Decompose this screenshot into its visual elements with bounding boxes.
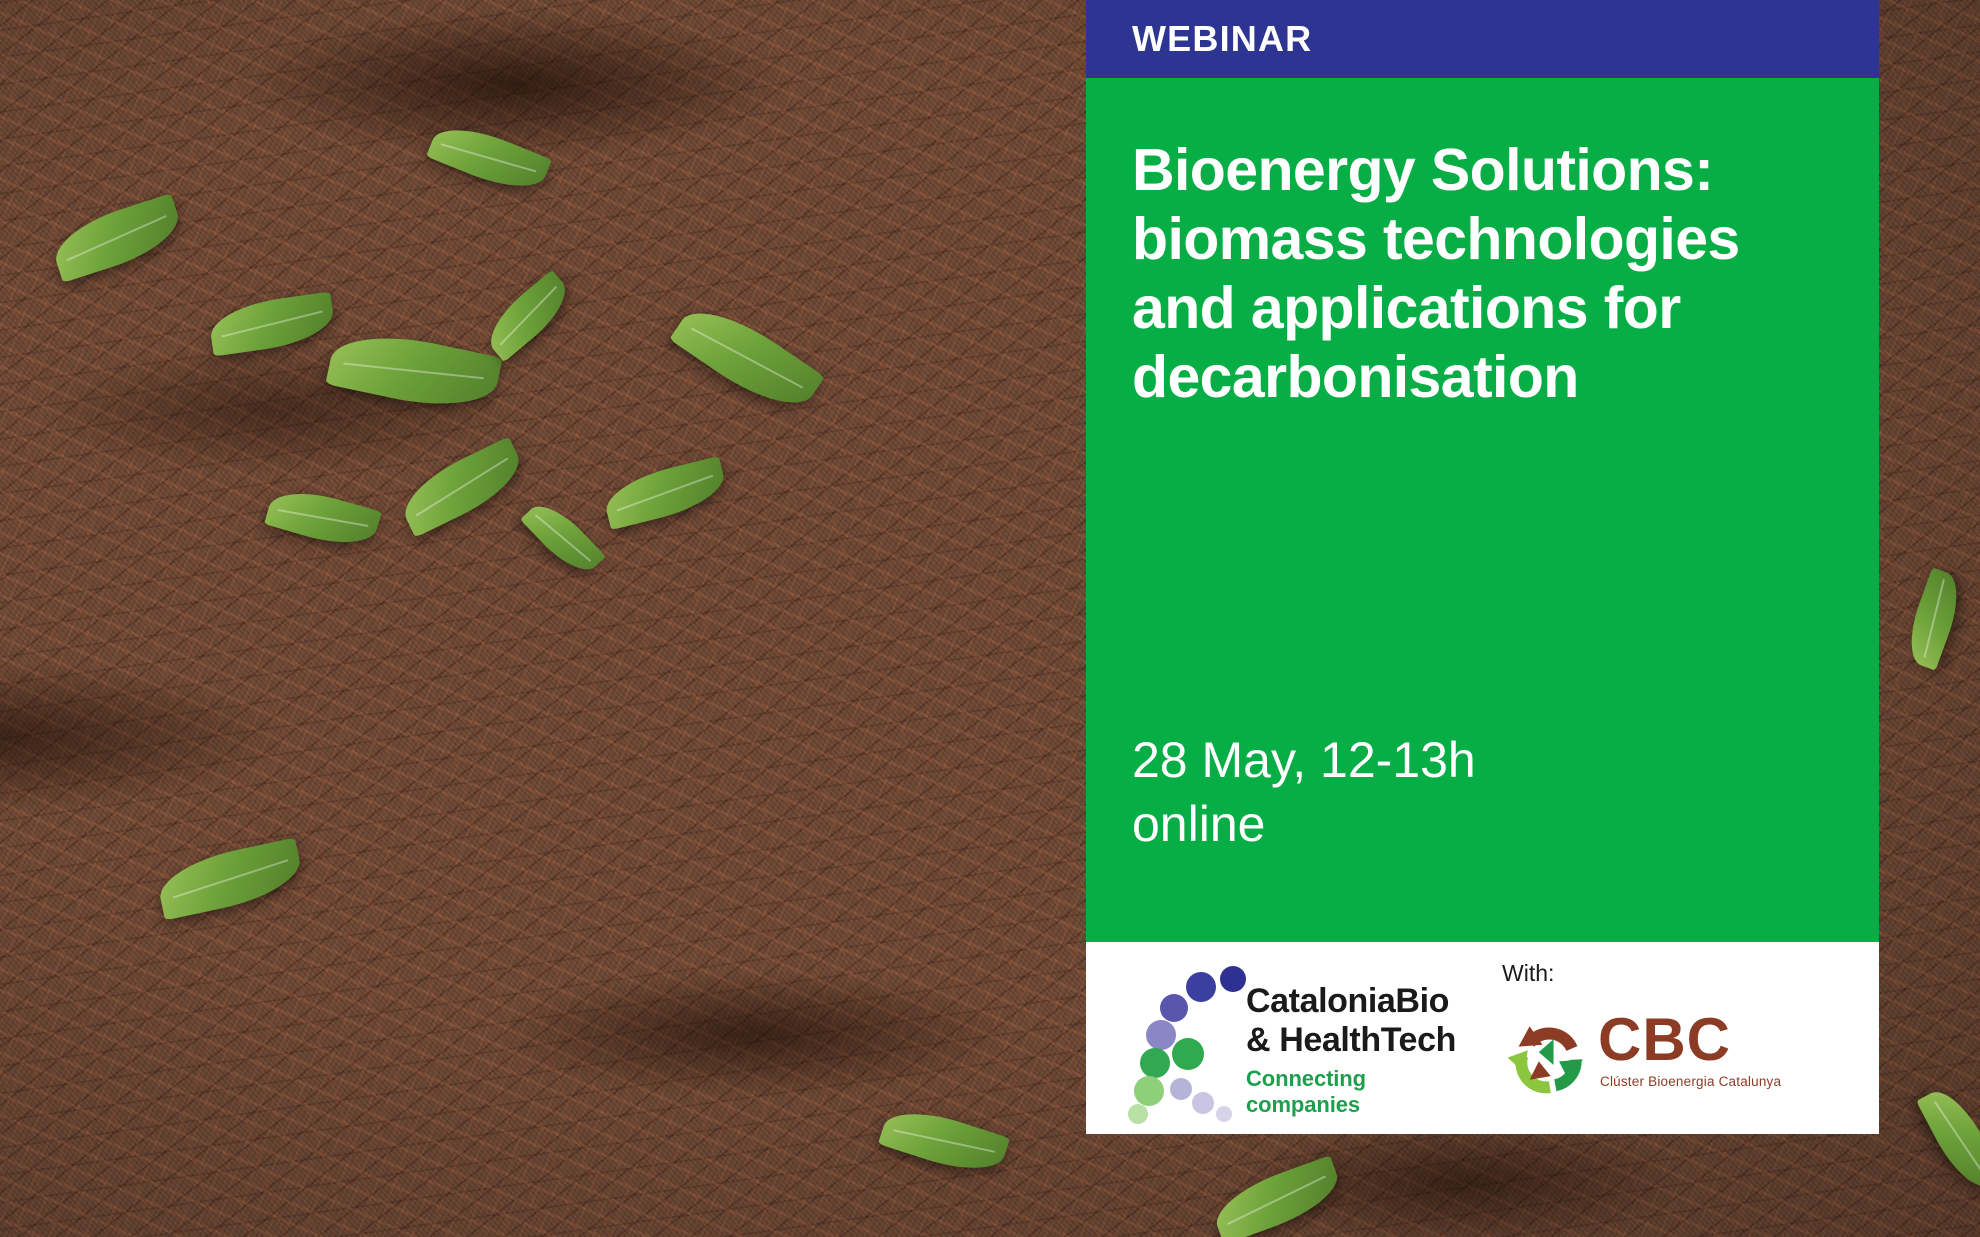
- cataloniabio-logo: CataloniaBio & HealthTech Connecting com…: [1134, 964, 1464, 1114]
- title-line-2: biomass technologies: [1132, 205, 1833, 274]
- cbc-logo: CBC Clúster Bioenergia Catalunya: [1502, 1004, 1832, 1112]
- logo-footer: CataloniaBio & HealthTech Connecting com…: [1086, 942, 1879, 1134]
- cataloniabio-name-line-2: & HealthTech: [1246, 1021, 1464, 1060]
- cbc-subtitle: Clúster Bioenergia Catalunya: [1600, 1074, 1781, 1089]
- page-title: Bioenergy Solutions: biomass technologie…: [1132, 78, 1833, 412]
- cataloniabio-wordmark: CataloniaBio & HealthTech Connecting com…: [1246, 982, 1464, 1118]
- recycle-arrows-icon: [1502, 1008, 1594, 1100]
- cbc-wordmark: CBC: [1598, 1010, 1731, 1070]
- event-format: online: [1132, 792, 1476, 856]
- cataloniabio-name: CataloniaBio & HealthTech: [1246, 982, 1464, 1061]
- cataloniabio-dots-icon: [1134, 964, 1246, 1114]
- event-details: 28 May, 12-13h online: [1132, 728, 1476, 856]
- cataloniabio-tagline: Connecting companies: [1246, 1066, 1464, 1118]
- webinar-ribbon: WEBINAR: [1086, 0, 1879, 78]
- panel-body: Bioenergy Solutions: biomass technologie…: [1086, 78, 1879, 942]
- title-line-4: decarbonisation: [1132, 343, 1833, 412]
- webinar-label: WEBINAR: [1132, 18, 1312, 60]
- promo-card: WEBINAR Bioenergy Solutions: biomass tec…: [0, 0, 1980, 1237]
- with-label: With:: [1502, 960, 1554, 987]
- title-line-1: Bioenergy Solutions:: [1132, 136, 1833, 205]
- event-datetime: 28 May, 12-13h: [1132, 728, 1476, 792]
- content-panel: WEBINAR Bioenergy Solutions: biomass tec…: [1086, 0, 1879, 1134]
- cataloniabio-name-line-1: CataloniaBio: [1246, 982, 1464, 1021]
- title-line-3: and applications for: [1132, 274, 1833, 343]
